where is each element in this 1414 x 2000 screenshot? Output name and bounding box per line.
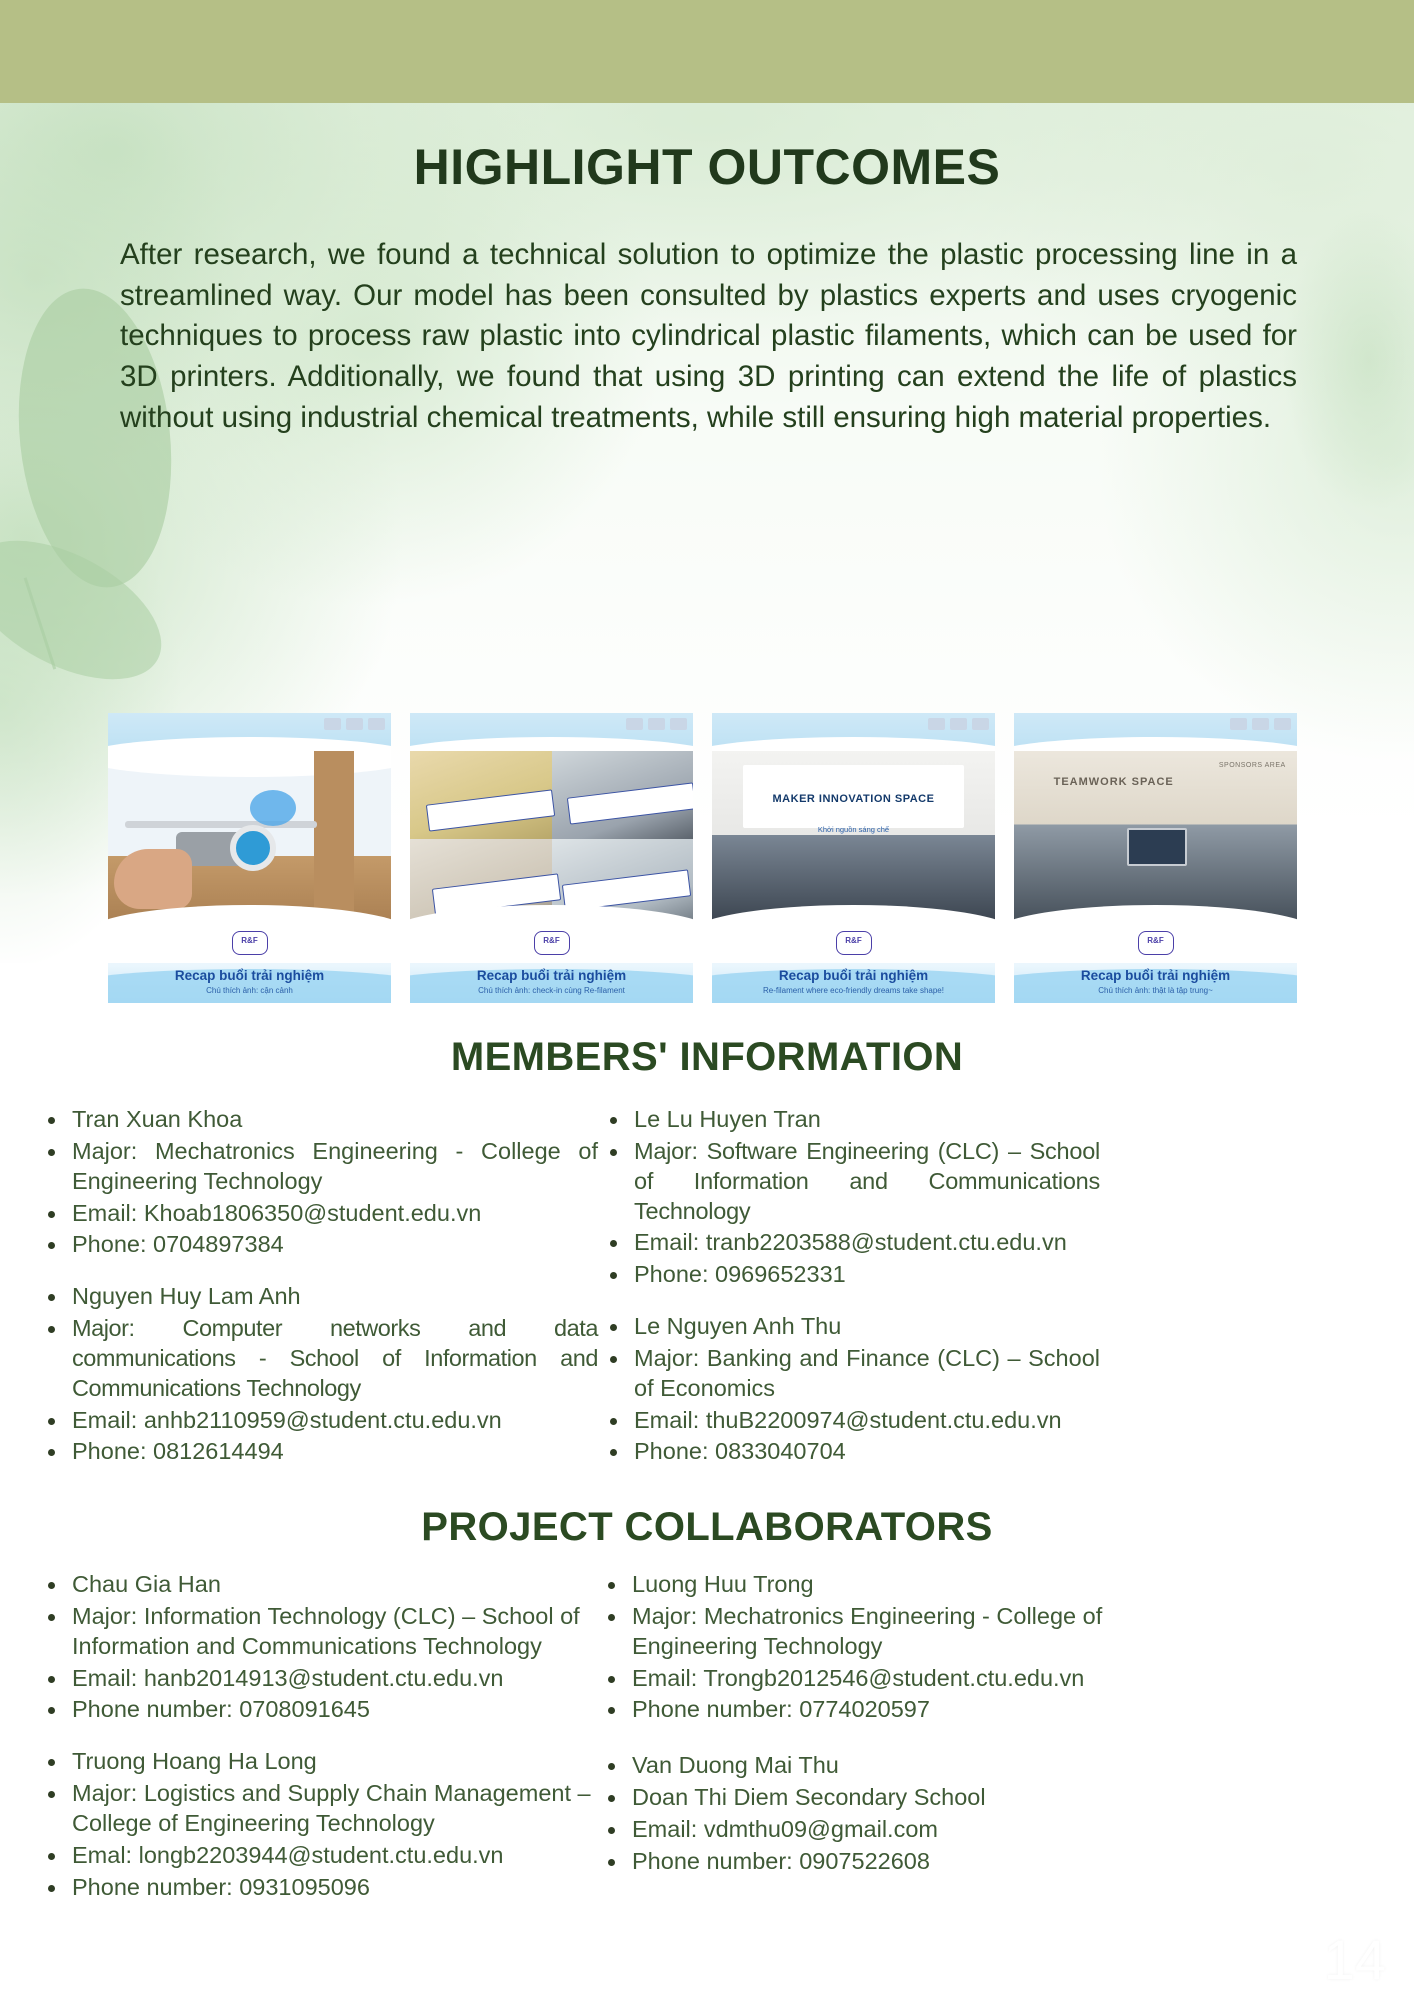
photo-banner-title: MAKER INNOVATION SPACE	[712, 793, 995, 805]
member-entry: Tran Xuan Khoa Major: Mechatronics Engin…	[38, 1105, 598, 1260]
member-email: Email: thuB2200974@student.ctu.edu.vn	[600, 1406, 1100, 1436]
member-major: Major: Mechatronics Engineering - Colleg…	[38, 1137, 598, 1197]
collaborator-entry: Luong Huu Trong Major: Mechatronics Engi…	[598, 1570, 1108, 1725]
member-entry: Nguyen Huy Lam Anh Major: Computer netwo…	[38, 1282, 598, 1467]
photo-subcaption: Chú thích ảnh: cận cảnh	[108, 986, 391, 995]
photo-subcaption: Chú thích ảnh: check-in cùng Re-filament	[410, 986, 693, 995]
member-phone: Phone: 0812614494	[38, 1437, 598, 1467]
collaborator-email: Email: Trongb2012546@student.ctu.edu.vn	[598, 1664, 1108, 1694]
collaborator-phone: Phone number: 0907522608	[598, 1847, 1108, 1877]
collaborator-phone: Phone number: 0708091645	[38, 1695, 598, 1725]
collaborator-school: Doan Thi Diem Secondary School	[598, 1783, 1108, 1813]
photo-subcaption: Re-filament where eco-friendly dreams ta…	[712, 986, 995, 995]
member-phone: Phone: 0704897384	[38, 1230, 598, 1260]
member-email: Email: tranb2203588@student.ctu.edu.vn	[600, 1228, 1100, 1258]
photo-caption: Recap buổi trải nghiệm	[410, 968, 693, 983]
re-filament-logo-icon	[1138, 931, 1174, 955]
member-major: Major: Computer networks and data commun…	[38, 1314, 598, 1404]
re-filament-logo-icon	[232, 931, 268, 955]
member-name: Tran Xuan Khoa	[38, 1105, 598, 1135]
collaborator-phone: Phone number: 0774020597	[598, 1695, 1108, 1725]
member-major: Major: Banking and Finance (CLC) – Schoo…	[600, 1344, 1100, 1404]
photo-caption-area: Recap buổi trải nghiệm Chú thích ảnh: cậ…	[108, 921, 391, 1003]
collaborator-name: Chau Gia Han	[38, 1570, 598, 1600]
photo-image-area	[410, 751, 693, 926]
checkin-collage-photo	[410, 751, 693, 926]
collaborator-name: Van Duong Mai Thu	[598, 1751, 1108, 1781]
member-entry: Le Nguyen Anh Thu Major: Banking and Fin…	[600, 1312, 1100, 1467]
member-major: Major: Software Engineering (CLC) – Scho…	[600, 1137, 1100, 1227]
member-name: Le Lu Huyen Tran	[600, 1105, 1100, 1135]
collaborator-email: Email: vdmthu09@gmail.com	[598, 1815, 1108, 1845]
photo-caption-area: Recap buổi trải nghiệm Chú thích ảnh: th…	[1014, 921, 1297, 1003]
collaborators-section-heading: PROJECT COLLABORATORS	[0, 1505, 1414, 1550]
member-phone: Phone: 0833040704	[600, 1437, 1100, 1467]
member-entry: Le Lu Huyen Tran Major: Software Enginee…	[600, 1105, 1100, 1290]
teamwork-space-photo: TEAMWORK SPACE SPONSORS AREA	[1014, 751, 1297, 926]
member-phone: Phone: 0969652331	[600, 1260, 1100, 1290]
photo-subcaption: Chú thích ảnh: thật là tập trung~	[1014, 986, 1297, 995]
photo-brand-logos	[1230, 718, 1291, 730]
photo-card: Recap buổi trải nghiệm Chú thích ảnh: cậ…	[108, 713, 391, 1003]
re-filament-logo-icon	[534, 931, 570, 955]
members-left-column: Tran Xuan Khoa Major: Mechatronics Engin…	[38, 1105, 598, 1489]
collaborator-entry: Truong Hoang Ha Long Major: Logistics an…	[38, 1747, 598, 1902]
collaborator-entry: Chau Gia Han Major: Information Technolo…	[38, 1570, 598, 1725]
photo-image-area	[108, 751, 391, 926]
photo-caption: Recap buổi trải nghiệm	[712, 968, 995, 983]
members-right-column: Le Lu Huyen Tran Major: Software Enginee…	[600, 1105, 1100, 1489]
photo-banner-title: TEAMWORK SPACE	[1054, 776, 1174, 788]
photo-card: MAKER INNOVATION SPACE Khởi nguồn sáng c…	[712, 713, 995, 1003]
photo-brand-logos	[626, 718, 687, 730]
collaborator-email: Email: hanb2014913@student.ctu.edu.vn	[38, 1664, 598, 1694]
photo-banner-subtitle: SPONSORS AREA	[1219, 762, 1286, 769]
collaborators-right-column: Luong Huu Trong Major: Mechatronics Engi…	[598, 1570, 1108, 1899]
collaborator-entry: Van Duong Mai Thu Doan Thi Diem Secondar…	[598, 1751, 1108, 1876]
member-name: Nguyen Huy Lam Anh	[38, 1282, 598, 1312]
photo-image-area: MAKER INNOVATION SPACE Khởi nguồn sáng c…	[712, 751, 995, 926]
collaborator-name: Luong Huu Trong	[598, 1570, 1108, 1600]
collaborator-name: Truong Hoang Ha Long	[38, 1747, 598, 1777]
photo-banner-subtitle: Khởi nguồn sáng chế	[712, 825, 995, 834]
member-email: Email: anhb2110959@student.ctu.edu.vn	[38, 1406, 598, 1436]
photo-card: TEAMWORK SPACE SPONSORS AREA Recap buổi …	[1014, 713, 1297, 1003]
member-email: Email: Khoab1806350@student.edu.vn	[38, 1199, 598, 1229]
photo-strip: Recap buổi trải nghiệm Chú thích ảnh: cậ…	[108, 713, 1304, 1003]
intro-paragraph: After research, we found a technical sol…	[120, 235, 1297, 439]
member-name: Le Nguyen Anh Thu	[600, 1312, 1100, 1342]
photo-caption: Recap buổi trải nghiệm	[1014, 968, 1297, 983]
collaborator-phone: Phone number: 0931095096	[38, 1873, 598, 1903]
collaborator-email: Emal: longb2203944@student.ctu.edu.vn	[38, 1841, 598, 1871]
photo-caption-area: Recap buổi trải nghiệm Re-filament where…	[712, 921, 995, 1003]
photo-brand-logos	[928, 718, 989, 730]
page-title: HIGHLIGHT OUTCOMES	[0, 138, 1414, 196]
page-number: 14	[1324, 1927, 1386, 1992]
document-page: HIGHLIGHT OUTCOMES After research, we fo…	[0, 0, 1414, 2000]
collaborators-left-column: Chau Gia Han Major: Information Technolo…	[38, 1570, 598, 1924]
photo-card: Recap buổi trải nghiệm Chú thích ảnh: ch…	[410, 713, 693, 1003]
collaborator-major: Major: Logistics and Supply Chain Manage…	[38, 1779, 598, 1839]
photo-caption: Recap buổi trải nghiệm	[108, 968, 391, 983]
maker-innovation-space-photo: MAKER INNOVATION SPACE Khởi nguồn sáng c…	[712, 751, 995, 926]
collaborator-major: Major: Information Technology (CLC) – Sc…	[38, 1602, 598, 1662]
photo-image-area: TEAMWORK SPACE SPONSORS AREA	[1014, 751, 1297, 926]
re-filament-logo-icon	[836, 931, 872, 955]
members-section-heading: MEMBERS' INFORMATION	[0, 1035, 1414, 1080]
collaborator-major: Major: Mechatronics Engineering - Colleg…	[598, 1602, 1108, 1662]
photo-caption-area: Recap buổi trải nghiệm Chú thích ảnh: ch…	[410, 921, 693, 1003]
header-color-band	[0, 0, 1414, 103]
extruder-machine-photo	[108, 751, 391, 926]
photo-brand-logos	[324, 718, 385, 730]
